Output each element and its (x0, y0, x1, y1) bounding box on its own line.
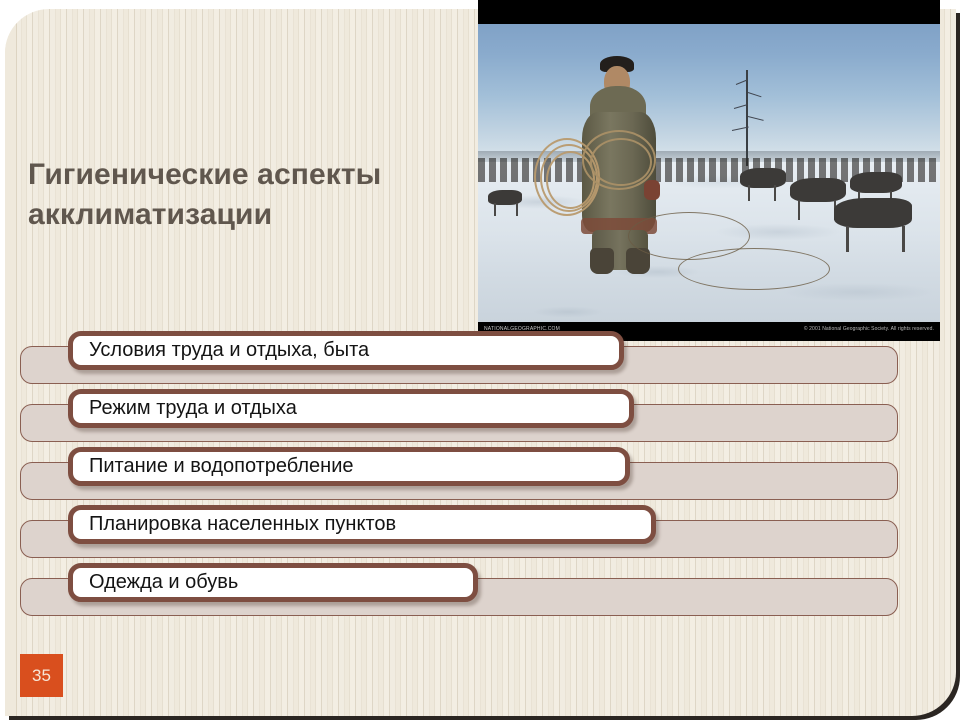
list-item-callout[interactable]: Планировка населенных пунктов (68, 505, 656, 544)
list-item-label: Режим труда и отдыха (73, 397, 297, 420)
list-item-label: Планировка населенных пунктов (73, 513, 396, 536)
list-item-callout[interactable]: Питание и водопотребление (68, 447, 630, 486)
list-item-label: Одежда и обувь (73, 571, 238, 594)
list-item-label: Условия труда и отдыха, быта (73, 339, 369, 362)
list-item-callout[interactable]: Режим труда и отдыха (68, 389, 634, 428)
page-number-badge: 35 (20, 654, 63, 697)
list-item-label: Питание и водопотребление (73, 455, 354, 478)
list-item-callout[interactable]: Одежда и обувь (68, 563, 478, 602)
bullet-list: Условия труда и отдыха, быта Режим труда… (0, 0, 960, 720)
list-item-callout[interactable]: Условия труда и отдыха, быта (68, 331, 624, 370)
slide: Гигиенические аспекты акклиматизации (0, 0, 960, 720)
